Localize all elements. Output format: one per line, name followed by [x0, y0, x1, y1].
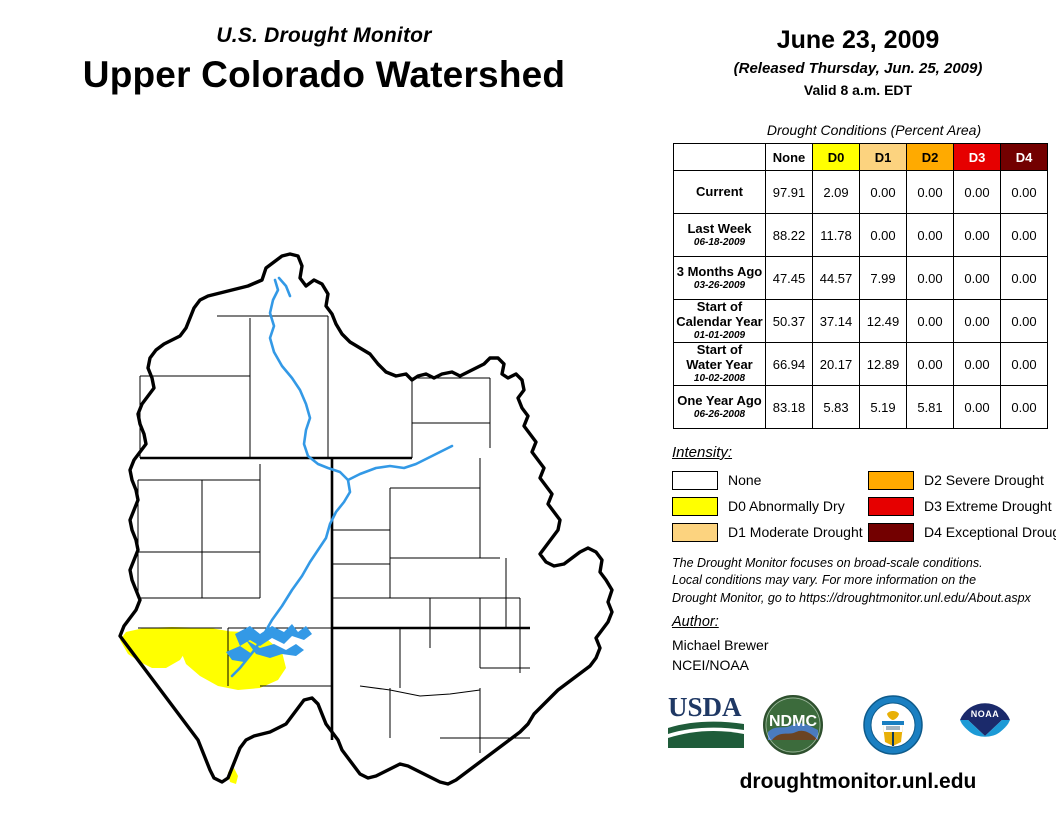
table-cell: 0.00	[954, 300, 1001, 343]
program-title: U.S. Drought Monitor	[0, 24, 648, 48]
table-row: 3 Months Ago03-26-200947.4544.577.990.00…	[674, 257, 1048, 300]
row-label: One Year Ago06-26-2008	[674, 386, 766, 429]
usda-logo[interactable]: USDA	[666, 690, 746, 750]
table-cell: 5.81	[907, 386, 954, 429]
table-cell: 0.00	[860, 214, 907, 257]
legend-column-left: NoneD0 Abnormally DryD1 Moderate Drought	[672, 468, 863, 546]
ndmc-logo[interactable]: NDMC	[758, 690, 828, 760]
row-date: 03-26-2009	[674, 280, 765, 291]
table-cell: 2.09	[813, 171, 860, 214]
table-cell: 0.00	[954, 257, 1001, 300]
table-header-d4: D4	[1001, 144, 1048, 171]
map-title-block: U.S. Drought Monitor Upper Colorado Wate…	[0, 24, 648, 96]
table-header-d2: D2	[907, 144, 954, 171]
table-cell: 44.57	[813, 257, 860, 300]
agency-logos: USDA NDMC NOAA	[662, 690, 1052, 764]
website-url[interactable]: droughtmonitor.unl.edu	[660, 770, 1056, 794]
row-date: 06-26-2008	[674, 409, 765, 420]
legend-item: None	[672, 468, 863, 492]
row-label: Start ofCalendar Year01-01-2009	[674, 300, 766, 343]
legend-item: D1 Moderate Drought	[672, 520, 863, 544]
table-cell: 83.18	[766, 386, 813, 429]
legend-label: D2 Severe Drought	[924, 472, 1044, 488]
disclaimer-note: The Drought Monitor focuses on broad-sca…	[672, 555, 1052, 607]
table-corner-cell	[674, 144, 766, 171]
state-boundaries	[140, 458, 530, 740]
table-header-d0: D0	[813, 144, 860, 171]
table-cell: 0.00	[1001, 300, 1048, 343]
legend-swatch	[672, 523, 718, 542]
disclaimer-line: The Drought Monitor focuses on broad-sca…	[672, 555, 1052, 572]
svg-text:NDMC: NDMC	[769, 713, 817, 730]
legend-item: D0 Abnormally Dry	[672, 494, 863, 518]
table-cell: 66.94	[766, 343, 813, 386]
table-cell: 50.37	[766, 300, 813, 343]
county-boundaries	[138, 316, 530, 753]
svg-text:USDA: USDA	[668, 692, 742, 722]
table-body: Current97.912.090.000.000.000.00Last Wee…	[674, 171, 1048, 429]
legend-item: D2 Severe Drought	[868, 468, 1056, 492]
legend-swatch	[672, 471, 718, 490]
row-label: Start ofWater Year10-02-2008	[674, 343, 766, 386]
table-cell: 0.00	[907, 257, 954, 300]
table-cell: 88.22	[766, 214, 813, 257]
table-cell: 0.00	[1001, 343, 1048, 386]
release-date: (Released Thursday, Jun. 25, 2009)	[660, 60, 1056, 77]
drought-map[interactable]	[60, 128, 640, 798]
table-cell: 20.17	[813, 343, 860, 386]
author-name: Michael Brewer	[672, 636, 768, 656]
table-cell: 97.91	[766, 171, 813, 214]
colorado-river	[232, 278, 452, 676]
table-cell: 0.00	[954, 214, 1001, 257]
table-row: Start ofWater Year10-02-200866.9420.1712…	[674, 343, 1048, 386]
legend-column-right: D2 Severe DroughtD3 Extreme DroughtD4 Ex…	[868, 468, 1056, 546]
report-date: June 23, 2009	[660, 26, 1056, 55]
legend-swatch	[868, 471, 914, 490]
legend-title: Intensity:	[672, 444, 732, 461]
watershed-boundary	[120, 254, 612, 784]
row-label: Last Week06-18-2009	[674, 214, 766, 257]
legend-item: D3 Extreme Drought	[868, 494, 1056, 518]
legend-label: D0 Abnormally Dry	[728, 498, 845, 514]
author-label: Author:	[672, 614, 719, 630]
table-cell: 0.00	[1001, 171, 1048, 214]
table-cell: 47.45	[766, 257, 813, 300]
table-cell: 5.83	[813, 386, 860, 429]
table-cell: 12.89	[860, 343, 907, 386]
row-label: 3 Months Ago03-26-2009	[674, 257, 766, 300]
disclaimer-line: Drought Monitor, go to https://droughtmo…	[672, 590, 1052, 607]
table-cell: 0.00	[1001, 386, 1048, 429]
report-header: June 23, 2009 (Released Thursday, Jun. 2…	[660, 26, 1056, 98]
svg-text:NOAA: NOAA	[971, 709, 1000, 719]
table-row: One Year Ago06-26-200883.185.835.195.810…	[674, 386, 1048, 429]
table-cell: 7.99	[860, 257, 907, 300]
row-date: 06-18-2009	[674, 237, 765, 248]
legend-item: D4 Exceptional Drought	[868, 520, 1056, 544]
table-row: Last Week06-18-200988.2211.780.000.000.0…	[674, 214, 1048, 257]
table-cell: 0.00	[1001, 257, 1048, 300]
author-block: Michael Brewer NCEI/NOAA	[672, 636, 768, 676]
author-affiliation: NCEI/NOAA	[672, 656, 768, 676]
valid-time: Valid 8 a.m. EDT	[660, 82, 1056, 98]
legend-swatch	[868, 523, 914, 542]
table-caption: Drought Conditions (Percent Area)	[700, 122, 1048, 138]
table-cell: 37.14	[813, 300, 860, 343]
legend-swatch	[672, 497, 718, 516]
table-header-d3: D3	[954, 144, 1001, 171]
table-header-none: None	[766, 144, 813, 171]
table-cell: 0.00	[1001, 214, 1048, 257]
table-cell: 0.00	[860, 171, 907, 214]
row-date: 10-02-2008	[674, 373, 765, 384]
table-cell: 5.19	[860, 386, 907, 429]
row-label: Current	[674, 171, 766, 214]
table-cell: 0.00	[907, 214, 954, 257]
legend-label: D1 Moderate Drought	[728, 524, 863, 540]
table-header-row: NoneD0D1D2D3D4	[674, 144, 1048, 171]
table-row: Current97.912.090.000.000.000.00	[674, 171, 1048, 214]
table-cell: 0.00	[954, 343, 1001, 386]
table-cell: 0.00	[907, 171, 954, 214]
legend-label: None	[728, 472, 761, 488]
row-date: 01-01-2009	[674, 330, 765, 341]
page-title: Upper Colorado Watershed	[0, 54, 648, 96]
legend-label: D3 Extreme Drought	[924, 498, 1052, 514]
table-cell: 12.49	[860, 300, 907, 343]
legend-label: D4 Exceptional Drought	[924, 524, 1056, 540]
table-row: Start ofCalendar Year01-01-200950.3737.1…	[674, 300, 1048, 343]
table-cell: 0.00	[907, 343, 954, 386]
table-cell: 0.00	[954, 171, 1001, 214]
doc-seal[interactable]	[858, 690, 928, 760]
noaa-logo[interactable]: NOAA	[950, 690, 1020, 760]
drought-conditions-table: NoneD0D1D2D3D4 Current97.912.090.000.000…	[673, 143, 1048, 429]
table-header-d1: D1	[860, 144, 907, 171]
table-cell: 11.78	[813, 214, 860, 257]
table-cell: 0.00	[907, 300, 954, 343]
disclaimer-line: Local conditions may vary. For more info…	[672, 572, 1052, 589]
legend-swatch	[868, 497, 914, 516]
map-svg	[60, 128, 640, 798]
table-cell: 0.00	[954, 386, 1001, 429]
